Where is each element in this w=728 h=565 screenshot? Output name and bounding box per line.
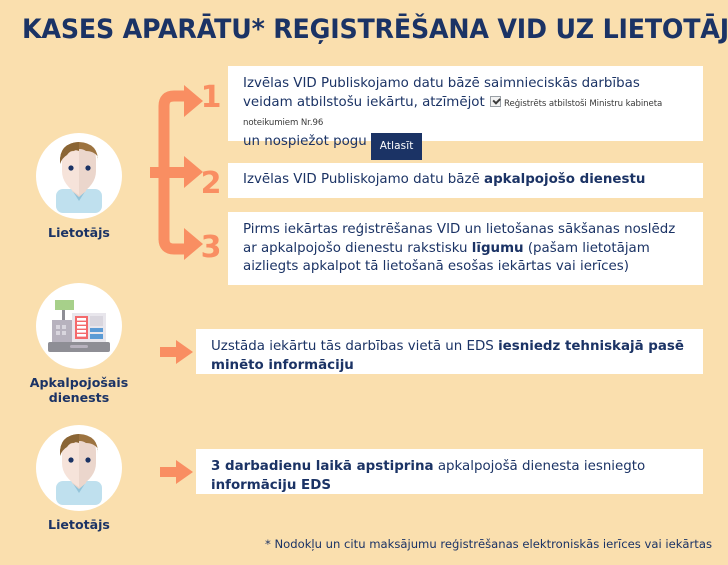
step-box-3: Pirms iekārtas reģistrēšanas VID un liet… <box>228 212 703 285</box>
actor-label-user-1: Lietotājs <box>14 226 144 241</box>
step-box-4: Uzstāda iekārtu tās darbības vietā un ED… <box>196 329 703 374</box>
step4-text-normal: Uzstāda iekārtu tās darbības vietā un ED… <box>211 339 498 354</box>
footnote: * Nodokļu un citu maksājumu reģistrēšana… <box>0 537 712 551</box>
arrow-right-icon-step5 <box>160 459 194 485</box>
step2-text-normal: Izvēlas VID Publiskojamo datu bāzē <box>243 172 484 187</box>
actor-service-provider: Apkalpojošaisdienests <box>14 283 144 405</box>
actor-user-1: Lietotājs <box>14 133 144 241</box>
step5-text-bold2: informāciju EDS <box>211 478 331 493</box>
step1-text-part2: un nospiežot pogu <box>243 134 367 149</box>
step-box-5: 3 darbadienu laikā apstiprina apkalpojoš… <box>196 449 703 494</box>
step-number-3: 3 <box>196 230 226 265</box>
person-avatar-icon <box>36 425 122 511</box>
step5-text-normal: apkalpojošā dienesta iesniegto <box>434 459 646 474</box>
arrow-right-icon-step4 <box>160 339 194 365</box>
person-avatar-icon <box>36 133 122 219</box>
avatar-disc-2 <box>36 425 122 511</box>
step3-text-bold: līgumu <box>472 241 524 256</box>
actor-user-2: Lietotājs <box>14 425 144 533</box>
atlasit-button[interactable]: Atlasīt <box>371 133 423 161</box>
actor-label-service-provider: Apkalpojošaisdienests <box>14 376 144 405</box>
step-box-1: Izvēlas VID Publiskojamo datu bāzē saimn… <box>228 66 703 141</box>
page-title: KASES APARĀTU* REĢISTRĒŠANA VID UZ LIETO… <box>22 14 681 45</box>
avatar-disc <box>36 133 122 219</box>
registered-checkbox[interactable] <box>490 96 501 107</box>
step5-text-bold: 3 darbadienu laikā apstiprina <box>211 459 434 474</box>
infographic-root: KASES APARĀTU* REĢISTRĒŠANA VID UZ LIETO… <box>0 0 728 565</box>
step-box-2: Izvēlas VID Publiskojamo datu bāzē apkal… <box>228 163 703 198</box>
actor-label-user-2: Lietotājs <box>14 518 144 533</box>
cash-register-icon <box>36 283 122 369</box>
step2-text-bold: apkalpojošo dienestu <box>484 172 645 187</box>
actor-label-line2: dienests <box>49 390 109 405</box>
actor-label-line1: Apkalpojošais <box>30 375 128 390</box>
step-number-1: 1 <box>196 80 226 115</box>
step-number-2: 2 <box>196 166 226 201</box>
register-disc <box>36 283 122 369</box>
